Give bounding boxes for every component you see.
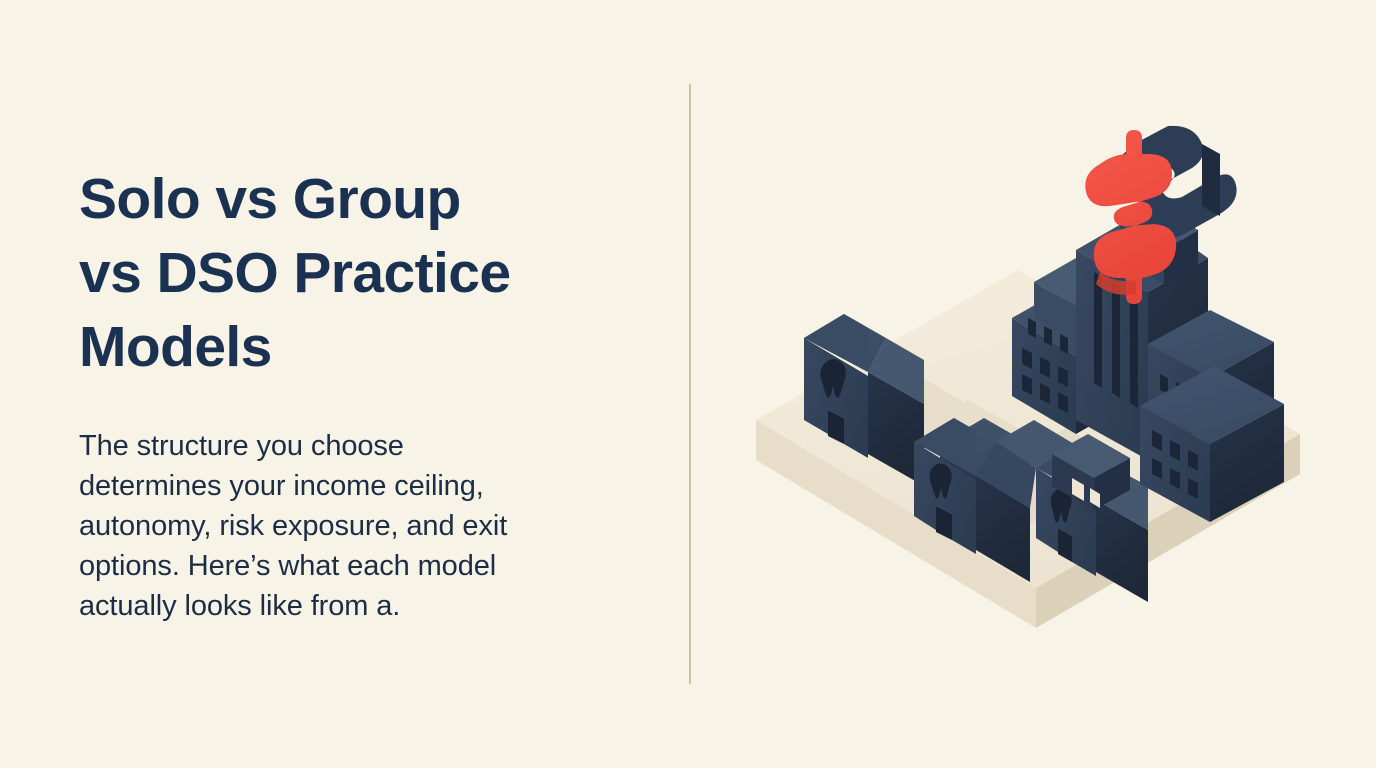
text-column: Solo vs Group vs DSO Practice Models The… <box>79 162 624 384</box>
vertical-divider <box>689 84 691 684</box>
page-title: Solo vs Group vs DSO Practice Models <box>79 162 624 384</box>
slide-root: Solo vs Group vs DSO Practice Models The… <box>0 0 1376 768</box>
page-subtitle: The structure you choose determines your… <box>79 426 619 626</box>
isometric-practice-models-illustration <box>728 120 1328 680</box>
